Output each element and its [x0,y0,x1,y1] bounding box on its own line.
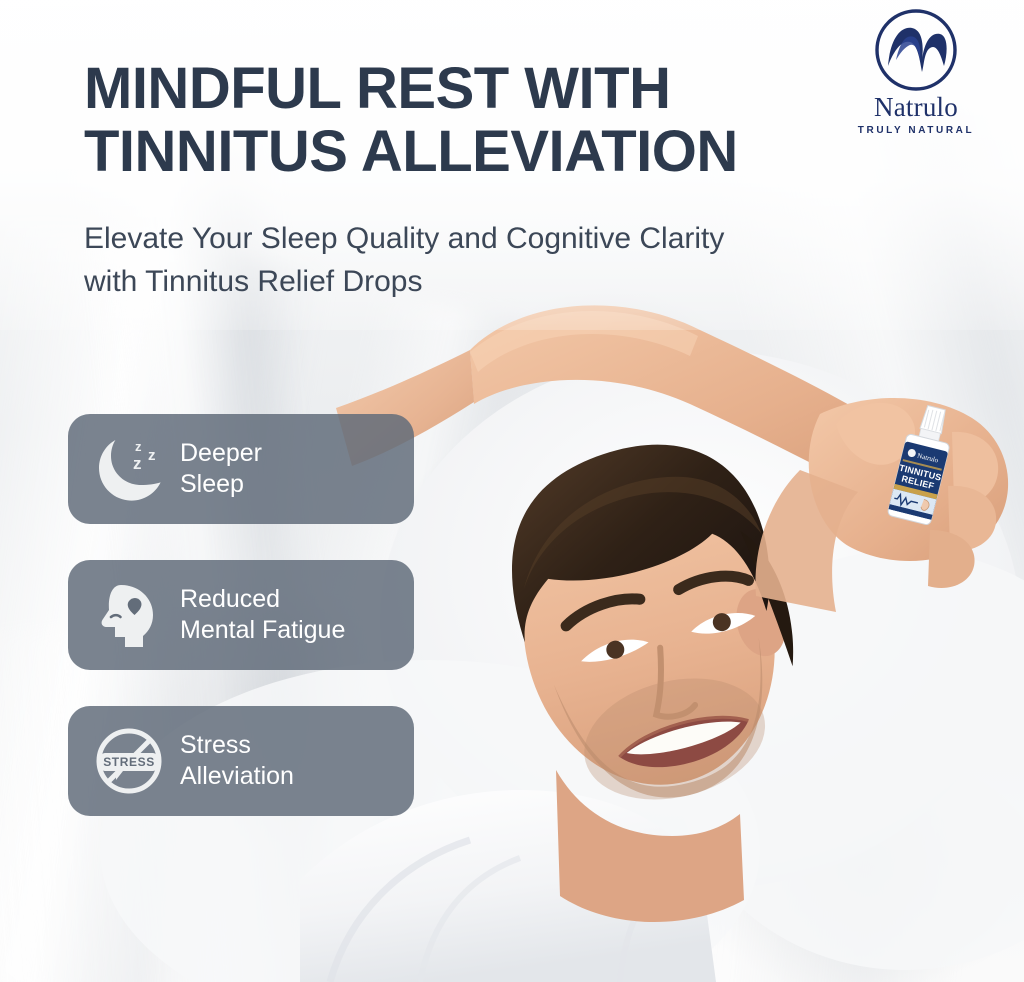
benefit-pill-stress-alleviation[interactable]: STRESS Stress Alleviation [68,706,414,816]
benefits-list: z z z Deeper Sleep Reduced Mental Fatigu… [68,414,414,816]
svg-text:z: z [148,447,156,464]
ad-creative: Natrulo TRULY NATURAL MINDFUL REST WITH … [0,0,1024,982]
benefit-label: Deeper Sleep [180,438,262,501]
brand-name: Natrulo [850,94,982,121]
brand-tagline: TRULY NATURAL [850,126,982,136]
benefit-label: Reduced Mental Fatigue [180,584,345,647]
no-stress-icon: STRESS [90,722,168,800]
head-heart-icon [90,576,168,654]
benefit-pill-deeper-sleep[interactable]: z z z Deeper Sleep [68,414,414,524]
svg-text:z: z [135,439,142,454]
headline: MINDFUL REST WITH TINNITUS ALLEVIATION [84,58,854,183]
benefit-label: Stress Alleviation [180,730,294,793]
natrulo-wave-n-icon [874,8,958,92]
tinnitus-relief-dropper-bottle-icon: Natrulo TINNITUS RELIEF [886,404,958,536]
svg-text:z: z [133,454,142,473]
brand-logo[interactable]: Natrulo TRULY NATURAL [850,8,982,136]
svg-text:STRESS: STRESS [103,755,155,769]
moon-zzz-icon: z z z [90,430,168,508]
subheadline: Elevate Your Sleep Quality and Cognitive… [84,218,774,303]
product-bottle: Natrulo TINNITUS RELIEF [886,404,958,536]
benefit-pill-reduced-mental-fatigue[interactable]: Reduced Mental Fatigue [68,560,414,670]
